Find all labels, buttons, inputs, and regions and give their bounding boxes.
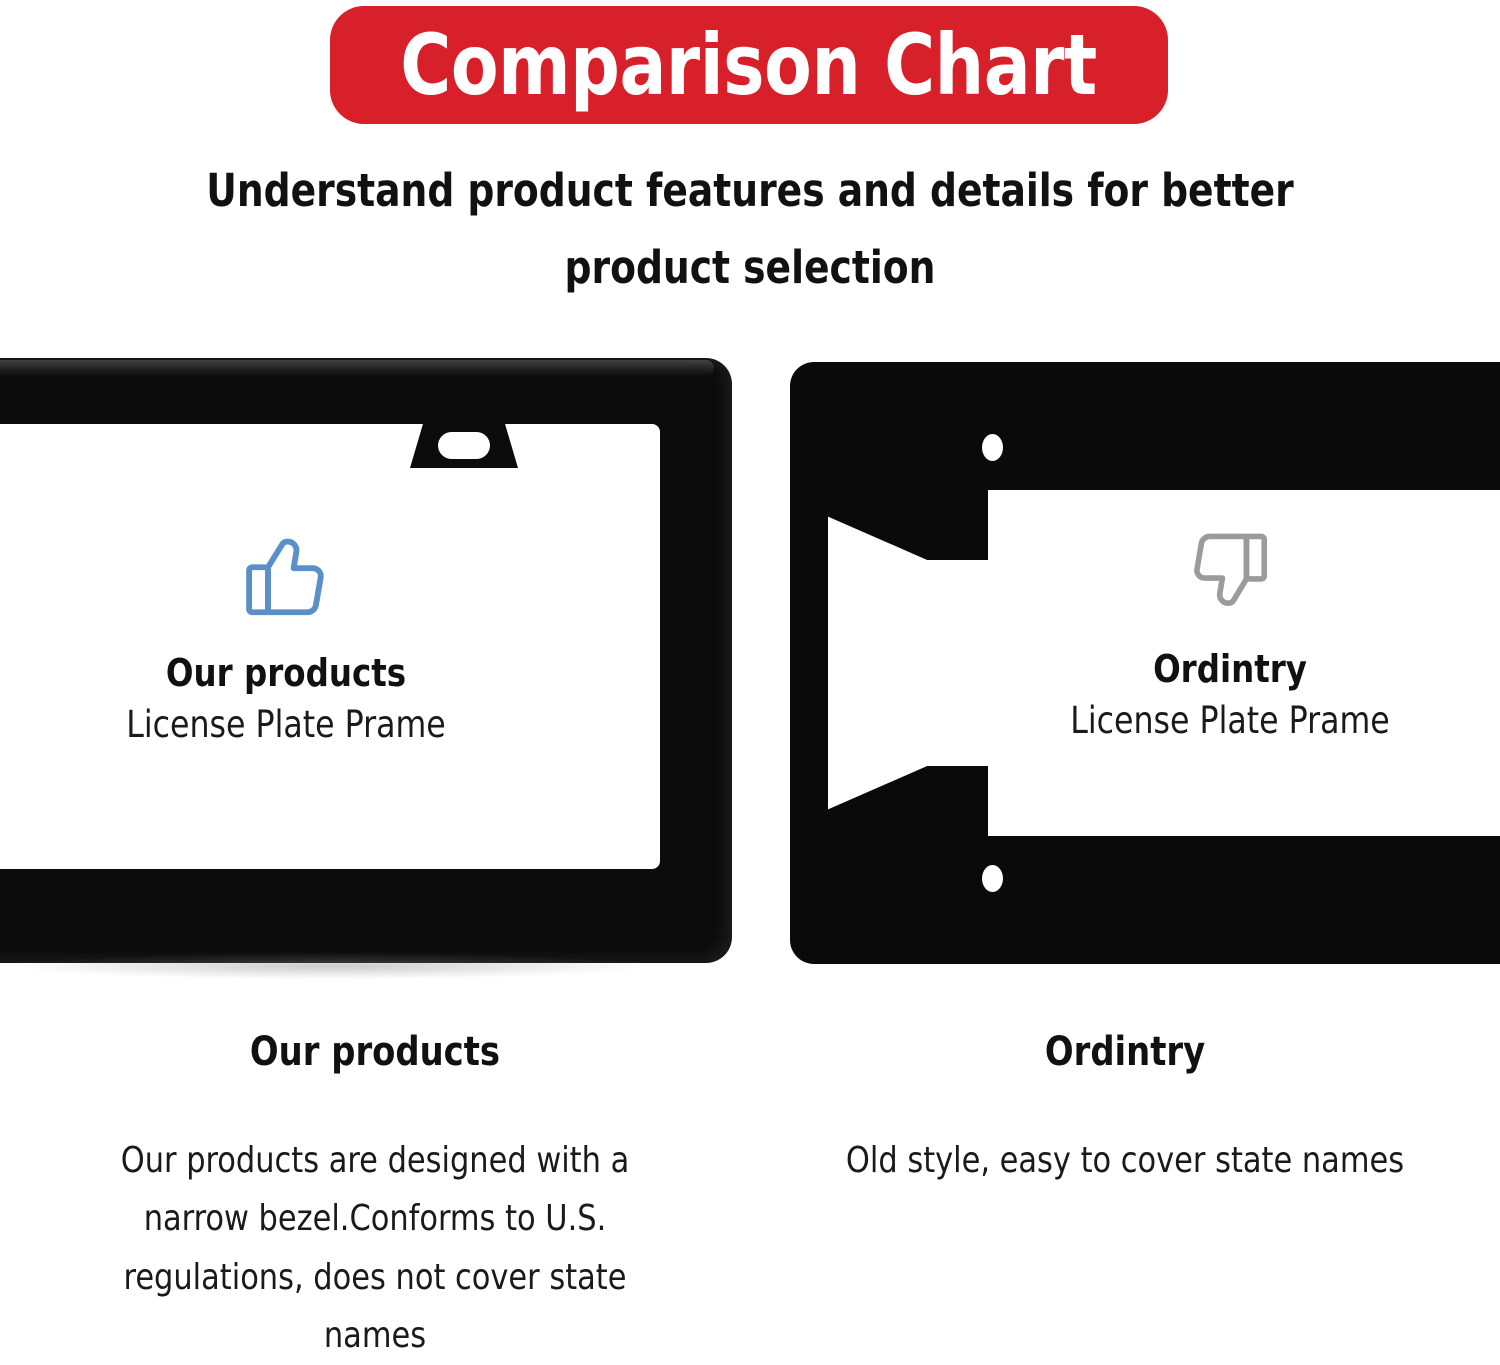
ordinary-subtitle: License Plate Prame [812, 697, 1500, 745]
ordinary-title: Ordintry [812, 648, 1500, 691]
comparison-chart-banner: Comparison Chart [330, 6, 1168, 124]
mounting-slot [438, 432, 490, 459]
ordinary-license-plate-frame: Ordintry License Plate Prame [790, 362, 1500, 964]
ordinary-label-block: Ordintry License Plate Prame [790, 520, 1500, 745]
screw-hole-top [982, 434, 1003, 461]
ordinary-caption-body: Old style, easy to cover state names [801, 1132, 1450, 1190]
frame-drop-shadow [20, 953, 640, 979]
thumbs-up-icon [0, 520, 732, 632]
thumbs-down-icon [790, 520, 1500, 628]
product-comparison-stage: Our products License Plate Prame Ordintr… [0, 340, 1500, 1000]
our-product-subtitle: License Plate Prame [0, 701, 710, 749]
page-subtitle: Understand product features and details … [53, 152, 1448, 307]
our-product-caption-column: Our products Our products are designed w… [0, 1030, 750, 1310]
our-product-caption-body: Our products are designed with a narrow … [84, 1132, 667, 1365]
caption-row: Our products Our products are designed w… [0, 1030, 1500, 1310]
our-product-label-block: Our products License Plate Prame [0, 520, 732, 749]
ordinary-caption-column: Ordintry Old style, easy to cover state … [750, 1030, 1500, 1310]
screw-hole-bottom [982, 865, 1003, 892]
our-product-title: Our products [0, 652, 710, 695]
our-product-caption-title: Our products [51, 1030, 700, 1074]
ordinary-caption-title: Ordintry [801, 1030, 1450, 1074]
page-title: Comparison Chart [401, 23, 1098, 107]
our-product-license-plate-frame: Our products License Plate Prame [0, 358, 732, 963]
subtitle-line-2: product selection [53, 229, 1448, 306]
subtitle-line-1: Understand product features and details … [53, 152, 1448, 229]
